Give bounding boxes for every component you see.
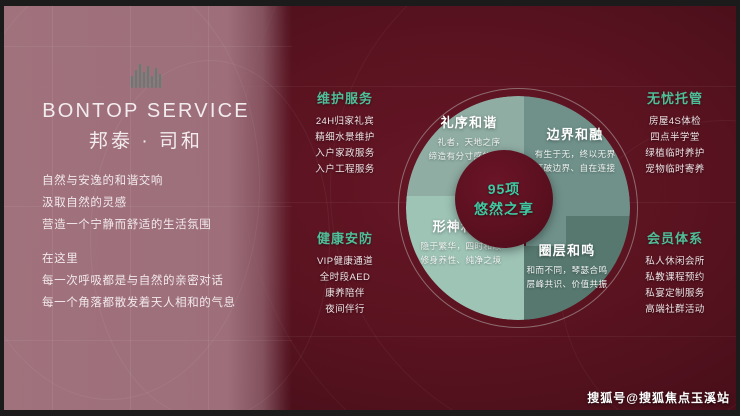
watermark: 搜狐号@搜狐焦点玉溪站 bbox=[587, 389, 730, 406]
service-item-list: 私人休闲会所 私教课程预约 私宴定制服务 高端社群活动 bbox=[627, 254, 723, 318]
service-item: 入户工程服务 bbox=[297, 162, 393, 178]
core-count: 95项 bbox=[488, 179, 521, 199]
service-group-title: 健康安防 bbox=[297, 228, 393, 247]
slide-canvas: BONTOP SERVICE 邦泰 · 司和 自然与安逸的和谐交响 汲取自然的灵… bbox=[0, 0, 740, 416]
barcode-bars-icon bbox=[0, 62, 292, 88]
service-item-list: 24H归家礼宾 精细水景维护 入户家政服务 入户工程服务 bbox=[297, 114, 393, 178]
service-item: 24H归家礼宾 bbox=[297, 114, 393, 130]
service-group-title: 维护服务 bbox=[297, 88, 393, 107]
letterbox-bottom bbox=[0, 410, 740, 416]
panel-grid-line bbox=[0, 340, 292, 341]
service-item: 宠物临时寄养 bbox=[627, 162, 723, 178]
service-item: 私人休闲会所 bbox=[627, 254, 723, 270]
service-item: 四点半学堂 bbox=[627, 130, 723, 146]
brand-block: BONTOP SERVICE 邦泰 · 司和 bbox=[0, 62, 292, 153]
brand-line: 在这里 bbox=[42, 248, 282, 270]
panel-grid-line bbox=[0, 46, 292, 47]
service-group-title: 无忧托管 bbox=[627, 88, 723, 107]
page-subtitle: 邦泰 · 司和 bbox=[0, 126, 292, 153]
brand-line: 每一个角落都散发着天人相和的气息 bbox=[42, 292, 282, 314]
service-group-title: 会员体系 bbox=[627, 228, 723, 247]
service-item: 夜间伴行 bbox=[297, 302, 393, 318]
service-item: 康养陪伴 bbox=[297, 286, 393, 302]
service-item: 私宴定制服务 bbox=[627, 286, 723, 302]
brand-line: 营造一个宁静而舒适的生活氛围 bbox=[42, 214, 282, 236]
brand-line: 每一次呼吸都是与自然的亲密对话 bbox=[42, 270, 282, 292]
brand-line: 自然与安逸的和谐交响 bbox=[42, 170, 282, 192]
service-item: VIP健康通道 bbox=[297, 254, 393, 270]
diagram-core-circle: 95项 悠然之享 bbox=[455, 150, 553, 248]
brand-description: 自然与安逸的和谐交响 汲取自然的灵感 营造一个宁静而舒适的生活氛围 在这里 每一… bbox=[42, 170, 282, 314]
service-item: 全时段AED bbox=[297, 270, 393, 286]
service-item: 私教课程预约 bbox=[627, 270, 723, 286]
pinwheel-diagram: 礼序和谐 礼者，天地之序 缔造有分寸感的礼仪 边界和融 有生于无，终以无界 打破… bbox=[398, 88, 638, 328]
service-item: 精细水景维护 bbox=[297, 130, 393, 146]
letterbox-top bbox=[0, 0, 740, 6]
service-group-membership: 会员体系 私人休闲会所 私教课程预约 私宴定制服务 高端社群活动 bbox=[627, 228, 723, 318]
service-group-maintenance: 维护服务 24H归家礼宾 精细水景维护 入户家政服务 入户工程服务 bbox=[297, 88, 393, 178]
service-item-list: 房屋4S体检 四点半学堂 绿植临时养护 宠物临时寄养 bbox=[627, 114, 723, 178]
service-group-health-security: 健康安防 VIP健康通道 全时段AED 康养陪伴 夜间伴行 bbox=[297, 228, 393, 318]
page-title: BONTOP SERVICE bbox=[0, 98, 292, 124]
core-name: 悠然之享 bbox=[474, 199, 534, 219]
service-group-worry-free-custody: 无忧托管 房屋4S体检 四点半学堂 绿植临时养护 宠物临时寄养 bbox=[627, 88, 723, 178]
service-item: 入户家政服务 bbox=[297, 146, 393, 162]
service-item-list: VIP健康通道 全时段AED 康养陪伴 夜间伴行 bbox=[297, 254, 393, 318]
service-item: 房屋4S体检 bbox=[627, 114, 723, 130]
service-item: 绿植临时养护 bbox=[627, 146, 723, 162]
service-item: 高端社群活动 bbox=[627, 302, 723, 318]
brand-line: 汲取自然的灵感 bbox=[42, 192, 282, 214]
letterbox-right bbox=[736, 0, 740, 416]
letterbox-left bbox=[0, 0, 4, 416]
